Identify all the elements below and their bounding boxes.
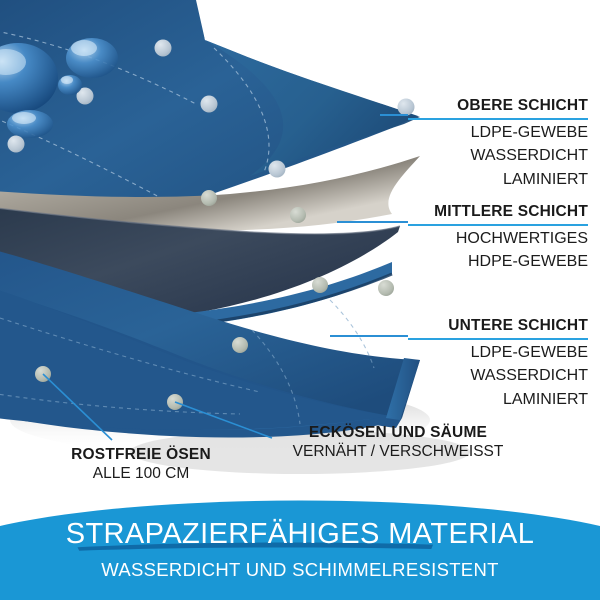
callout-middle-layer: MITTLERE SCHICHT HOCHWERTIGES HDPE-GEWEB… xyxy=(408,204,588,273)
callout-eyelets-subtitle: ALLE 100 CM xyxy=(34,465,248,483)
bottom-banner: STRAPAZIERFÄHIGES MATERIAL WASSERDICHT U… xyxy=(0,496,600,600)
callout-corners: ECKÖSEN UND SÄUME VERNÄHT / VERSCHWEISST xyxy=(268,424,528,461)
callout-corners-subtitle: VERNÄHT / VERSCHWEISST xyxy=(268,443,528,461)
callout-bottom-layer-line-1: LDPE-GEWEBE xyxy=(408,343,588,363)
callout-middle-layer-rule xyxy=(408,224,588,226)
callout-top-layer-rule xyxy=(408,118,588,120)
callout-middle-layer-title: MITTLERE SCHICHT xyxy=(408,204,588,220)
callout-middle-layer-line-2: HDPE-GEWEBE xyxy=(408,252,588,272)
callout-bottom-layer-title: UNTERE SCHICHT xyxy=(408,318,588,334)
callout-top-layer-line-2: WASSERDICHT xyxy=(408,146,588,166)
banner-text-block: STRAPAZIERFÄHIGES MATERIAL WASSERDICHT U… xyxy=(0,520,600,580)
callout-bottom-layer-line-3: LAMINIERT xyxy=(408,390,588,410)
callout-top-layer-title: OBERE SCHICHT xyxy=(408,98,588,114)
infographic-canvas: OBERE SCHICHT LDPE-GEWEBE WASSERDICHT LA… xyxy=(0,0,600,600)
banner-headline: STRAPAZIERFÄHIGES MATERIAL xyxy=(66,520,535,549)
callout-eyelets: ROSTFREIE ÖSEN ALLE 100 CM xyxy=(34,446,248,483)
callout-top-layer: OBERE SCHICHT LDPE-GEWEBE WASSERDICHT LA… xyxy=(408,98,588,190)
callout-middle-layer-line-1: HOCHWERTIGES xyxy=(408,229,588,249)
callout-bottom-layer-line-2: WASSERDICHT xyxy=(408,366,588,386)
callout-top-layer-line-3: LAMINIERT xyxy=(408,170,588,190)
callout-top-layer-line-1: LDPE-GEWEBE xyxy=(408,123,588,143)
callout-bottom-layer-rule xyxy=(408,338,588,340)
callout-eyelets-title: ROSTFREIE ÖSEN xyxy=(34,446,248,463)
callout-bottom-layer: UNTERE SCHICHT LDPE-GEWEBE WASSERDICHT L… xyxy=(408,318,588,410)
callout-corners-title: ECKÖSEN UND SÄUME xyxy=(268,424,528,441)
banner-subline: WASSERDICHT UND SCHIMMELRESISTENT xyxy=(0,561,600,580)
